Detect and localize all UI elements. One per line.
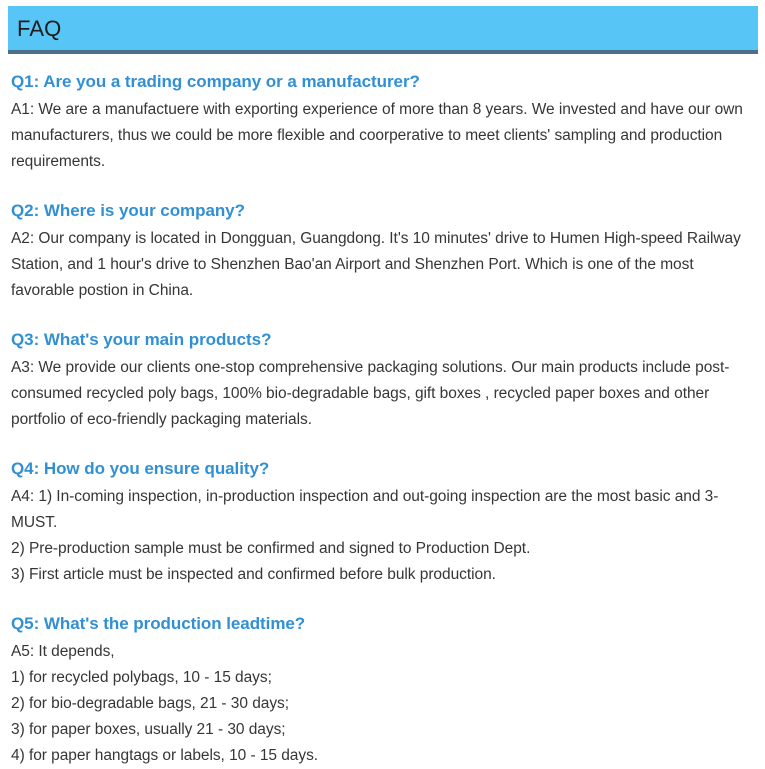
faq-item: Q4: How do you ensure quality? A4: 1) In… xyxy=(11,457,753,588)
faq-answer-line: A3: We provide our clients one-stop comp… xyxy=(11,355,753,433)
faq-answer-line: 4) for paper hangtags or labels, 10 - 15… xyxy=(11,743,753,769)
faq-answer: A3: We provide our clients one-stop comp… xyxy=(11,355,753,433)
faq-question: Q1: Are you a trading company or a manuf… xyxy=(11,70,753,94)
faq-item: Q5: What's the production leadtime? A5: … xyxy=(11,612,753,769)
faq-list: Q1: Are you a trading company or a manuf… xyxy=(11,70,753,769)
faq-answer: A2: Our company is located in Dongguan, … xyxy=(11,226,753,304)
faq-question: Q5: What's the production leadtime? xyxy=(11,612,753,636)
faq-answer-line: 3) for paper boxes, usually 21 - 30 days… xyxy=(11,717,753,743)
faq-answer-line: A2: Our company is located in Dongguan, … xyxy=(11,226,753,304)
faq-question: Q2: Where is your company? xyxy=(11,199,753,223)
faq-answer-line: 2) Pre-production sample must be confirm… xyxy=(11,536,753,562)
faq-item: Q2: Where is your company? A2: Our compa… xyxy=(11,199,753,304)
faq-question: Q3: What's your main products? xyxy=(11,328,753,352)
faq-item: Q3: What's your main products? A3: We pr… xyxy=(11,328,753,433)
faq-answer: A5: It depends, 1) for recycled polybags… xyxy=(11,639,753,769)
faq-answer: A1: We are a manufactuere with exporting… xyxy=(11,97,753,175)
faq-answer-line: 2) for bio-degradable bags, 21 - 30 days… xyxy=(11,691,753,717)
faq-question: Q4: How do you ensure quality? xyxy=(11,457,753,481)
faq-answer-line: 1) for recycled polybags, 10 - 15 days; xyxy=(11,665,753,691)
faq-item: Q1: Are you a trading company or a manuf… xyxy=(11,70,753,175)
faq-answer-line: A1: We are a manufactuere with exporting… xyxy=(11,97,753,175)
faq-answer-line: A4: 1) In-coming inspection, in-producti… xyxy=(11,484,753,536)
faq-answer-line: 3) First article must be inspected and c… xyxy=(11,562,753,588)
faq-banner: FAQ xyxy=(8,6,758,54)
page-title: FAQ xyxy=(17,14,61,44)
faq-answer: A4: 1) In-coming inspection, in-producti… xyxy=(11,484,753,588)
faq-page: FAQ Q1: Are you a trading company or a m… xyxy=(0,0,765,748)
faq-answer-line: A5: It depends, xyxy=(11,639,753,665)
